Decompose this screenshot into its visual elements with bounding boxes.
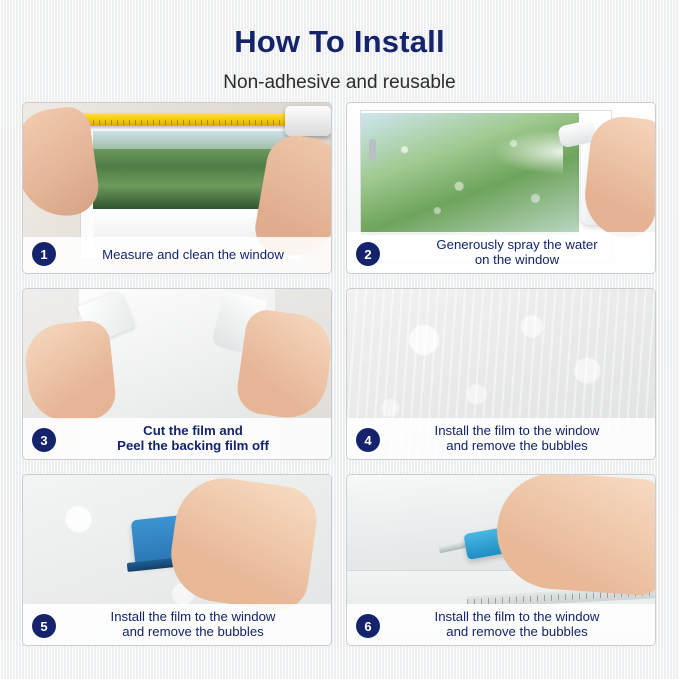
step-badge-6: 6 [356,614,380,638]
step-card-6: Install the film to the window and remov… [346,474,656,646]
step-caption-bar-5: Install the film to the window and remov… [23,604,331,645]
step-caption-6: Install the film to the window and remov… [387,609,647,639]
step-card-2: Generously spray the water on the window… [346,102,656,274]
tape-measure-icon [69,113,319,126]
step-caption-bar-2: Generously spray the water on the window [347,232,655,273]
step-caption-5: Install the film to the window and remov… [63,609,323,639]
step-card-3: Cut the film and Peel the backing film o… [22,288,332,460]
step-caption-2: Generously spray the water on the window [387,237,647,267]
step-badge-1: 1 [32,242,56,266]
step-caption-bar-1: Measure and clean the window [23,237,331,273]
step-caption-bar-4: Install the film to the window and remov… [347,418,655,459]
steps-grid: Measure and clean the window 1 Generousl… [22,102,657,646]
window-handle-icon [369,139,376,161]
step-card-4: Install the film to the window and remov… [346,288,656,460]
water-mist [493,129,563,175]
page-subtitle: Non-adhesive and reusable [0,72,679,94]
step-badge-4: 4 [356,428,380,452]
step-badge-2: 2 [356,242,380,266]
step-badge-5: 5 [32,614,56,638]
how-to-install-page: How To Install Non-adhesive and reusable… [0,0,679,679]
step-card-1: Measure and clean the window 1 [22,102,332,274]
step-caption-4: Install the film to the window and remov… [387,423,647,453]
step-caption-1: Measure and clean the window [63,247,323,262]
page-title: How To Install [0,0,679,60]
step-caption-bar-6: Install the film to the window and remov… [347,604,655,645]
step-card-5: Install the film to the window and remov… [22,474,332,646]
tape-measure-case-icon [285,106,331,136]
step-caption-3: Cut the film and Peel the backing film o… [63,423,323,453]
step-caption-bar-3: Cut the film and Peel the backing film o… [23,418,331,459]
step-badge-3: 3 [32,428,56,452]
